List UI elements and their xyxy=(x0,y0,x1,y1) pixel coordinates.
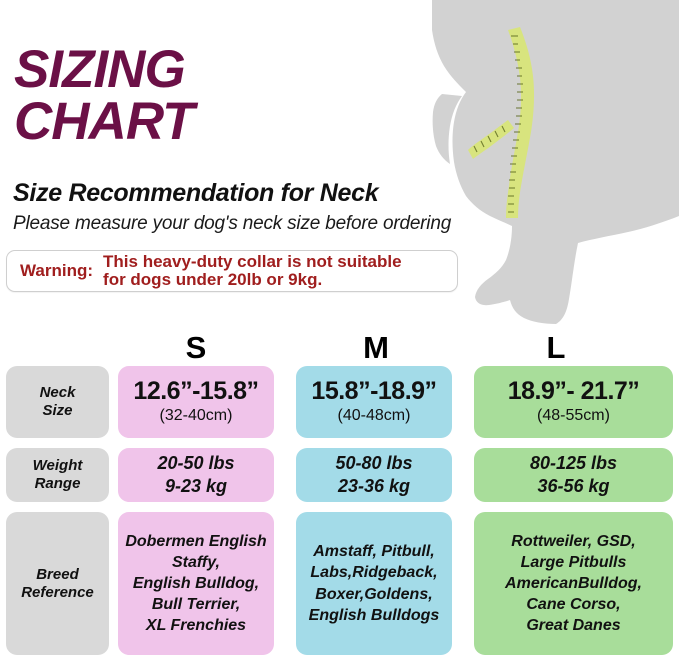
breed-small-line-5: XL Frenchies xyxy=(125,615,266,636)
breed-medium-line-2: Labs,Ridgeback, xyxy=(309,562,440,583)
size-header-medium: M xyxy=(296,332,456,363)
sizing-table: S M L Neck Size 12.6”-15.8” (32-40cm) 15… xyxy=(6,332,673,668)
size-header-large: L xyxy=(476,332,636,363)
row-label-breed-reference-line2: Reference xyxy=(21,584,94,602)
row-label-breed-reference-line1: Breed xyxy=(21,566,94,584)
neck-size-large-inches: 18.9”- 21.7” xyxy=(508,379,640,405)
title-line-1: SIZING xyxy=(14,40,185,99)
breed-large-line-2: Large Pitbulls xyxy=(505,552,642,573)
weight-range-small-cell: 20-50 lbs 9-23 kg xyxy=(118,448,274,502)
table-header-row: S M L xyxy=(6,332,673,366)
dog-illustration xyxy=(432,0,679,325)
neck-size-small-inches: 12.6”-15.8” xyxy=(133,379,258,405)
row-label-weight-range: Weight Range xyxy=(6,448,109,502)
weight-range-medium-cell: 50-80 lbs 23-36 kg xyxy=(296,448,452,502)
breed-large-line-4: Cane Corso, xyxy=(505,594,642,615)
warning-message: This heavy-duty collar is not suitable f… xyxy=(103,253,402,290)
weight-medium-kg: 23-36 kg xyxy=(335,475,412,498)
table-row-breed-reference: Breed Reference Dobermen English Staffy,… xyxy=(6,512,673,655)
row-label-weight-range-line2: Range xyxy=(33,475,83,493)
neck-size-medium-cm: (40-48cm) xyxy=(338,406,411,425)
breed-medium-line-3: Boxer,Goldens, xyxy=(309,584,440,605)
neck-size-small-cell: 12.6”-15.8” (32-40cm) xyxy=(118,366,274,438)
warning-line-2: for dogs under 20lb or 9kg. xyxy=(103,271,402,289)
breed-large-cell: Rottweiler, GSD, Large Pitbulls American… xyxy=(474,512,673,655)
page-title: SIZING CHART xyxy=(14,44,444,148)
breed-medium-line-4: English Bulldogs xyxy=(309,605,440,626)
warning-label: Warning: xyxy=(7,261,103,281)
breed-small-cell: Dobermen English Staffy, English Bulldog… xyxy=(118,512,274,655)
row-label-neck-size-line2: Size xyxy=(40,402,76,420)
weight-small-kg: 9-23 kg xyxy=(157,475,234,498)
warning-line-1: This heavy-duty collar is not suitable xyxy=(103,253,402,271)
row-label-weight-range-line1: Weight xyxy=(33,457,83,475)
breed-medium-cell: Amstaff, Pitbull, Labs,Ridgeback, Boxer,… xyxy=(296,512,452,655)
weight-large-kg: 36-56 kg xyxy=(530,475,617,498)
breed-small-line-1: Dobermen English xyxy=(125,531,266,552)
breed-large-line-3: AmericanBulldog, xyxy=(505,573,642,594)
table-row-neck-size: Neck Size 12.6”-15.8” (32-40cm) 15.8”-18… xyxy=(6,366,673,438)
row-label-breed-reference: Breed Reference xyxy=(6,512,109,655)
warning-box: Warning: This heavy-duty collar is not s… xyxy=(6,250,458,292)
breed-medium-line-1: Amstaff, Pitbull, xyxy=(309,541,440,562)
dog-silhouette-icon xyxy=(432,0,679,325)
breed-large-line-1: Rottweiler, GSD, xyxy=(505,531,642,552)
weight-large-lbs: 80-125 lbs xyxy=(530,452,617,475)
sizing-chart-page: SIZING CHART Size Recommendation for Nec… xyxy=(0,0,679,672)
neck-size-small-cm: (32-40cm) xyxy=(160,406,233,425)
breed-small-line-4: Bull Terrier, xyxy=(125,594,266,615)
weight-small-lbs: 20-50 lbs xyxy=(157,452,234,475)
weight-range-large-cell: 80-125 lbs 36-56 kg xyxy=(474,448,673,502)
breed-small-line-3: English Bulldog, xyxy=(125,573,266,594)
instruction-text: Please measure your dog's neck size befo… xyxy=(13,214,493,233)
neck-size-large-cell: 18.9”- 21.7” (48-55cm) xyxy=(474,366,673,438)
neck-size-medium-cell: 15.8”-18.9” (40-48cm) xyxy=(296,366,452,438)
breed-small-line-2: Staffy, xyxy=(125,552,266,573)
row-label-neck-size-line1: Neck xyxy=(40,384,76,402)
subtitle: Size Recommendation for Neck xyxy=(13,181,483,206)
neck-size-large-cm: (48-55cm) xyxy=(537,406,610,425)
size-header-small: S xyxy=(116,332,276,363)
row-label-neck-size: Neck Size xyxy=(6,366,109,438)
neck-size-medium-inches: 15.8”-18.9” xyxy=(311,379,436,405)
breed-large-line-5: Great Danes xyxy=(505,615,642,636)
title-line-2: CHART xyxy=(14,96,444,148)
table-row-weight-range: Weight Range 20-50 lbs 9-23 kg 50-80 lbs… xyxy=(6,448,673,502)
weight-medium-lbs: 50-80 lbs xyxy=(335,452,412,475)
